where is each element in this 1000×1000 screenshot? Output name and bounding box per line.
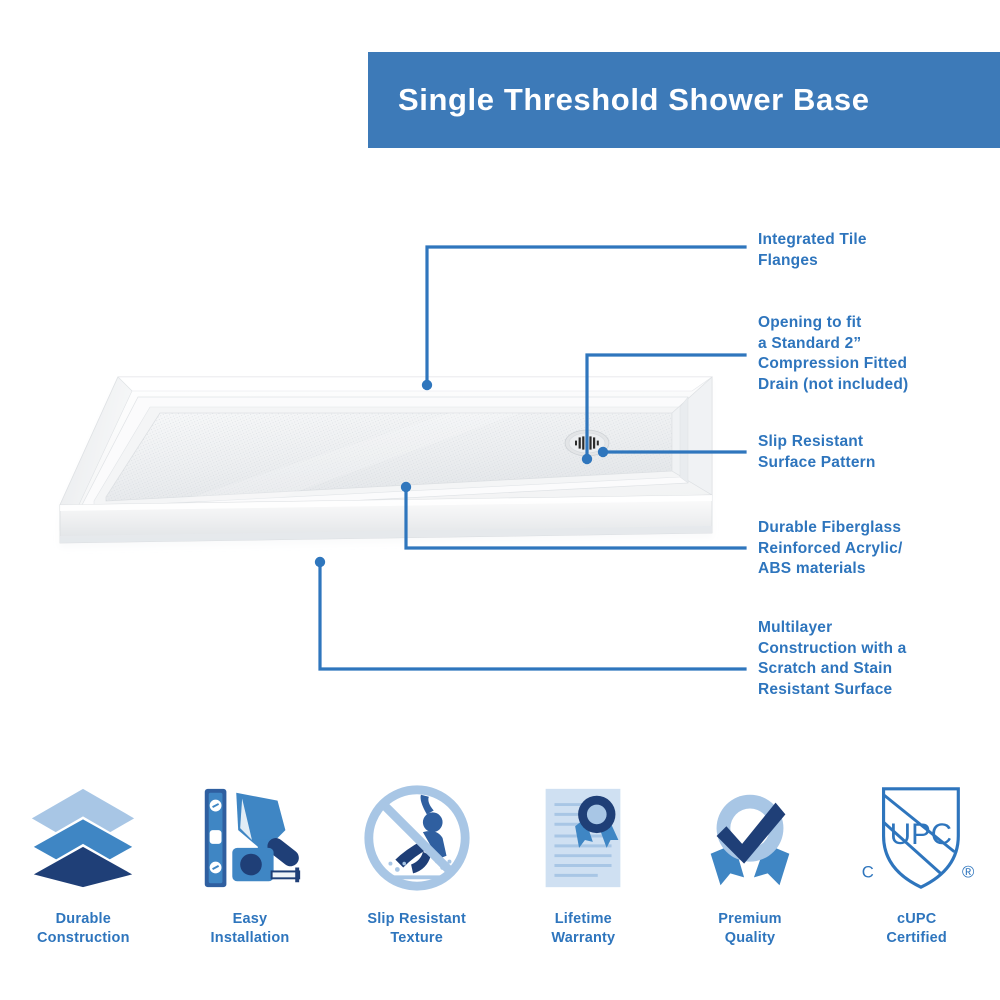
feature-cupc-certified: UPC C ® cUPC Certified xyxy=(833,778,1000,978)
tools-icon xyxy=(190,778,310,898)
check-rosette-icon xyxy=(690,778,810,898)
leader-dot-multilayer-construction xyxy=(315,557,325,567)
leader-dot-fiberglass-acrylic-abs xyxy=(401,482,411,492)
feature-strip: Durable Construction xyxy=(0,778,1000,978)
cupc-left-mark: C xyxy=(861,862,873,881)
cupc-band-text: UPC xyxy=(889,818,951,851)
leader-dot-drain-opening xyxy=(582,454,592,464)
feature-durable-construction: Durable Construction xyxy=(0,778,167,978)
leader-dot-slip-resistant-surface xyxy=(598,447,608,457)
callout-integrated-tile-flanges: Integrated Tile Flanges xyxy=(758,230,867,271)
leader-line-drain-opening xyxy=(587,355,745,459)
certificate-icon xyxy=(523,778,643,898)
feature-lifetime-warranty: Lifetime Warranty xyxy=(500,778,667,978)
feature-label: Easy Installation xyxy=(211,910,290,947)
callout-drain-opening: Opening to fit a Standard 2” Compression… xyxy=(758,313,908,395)
callout-multilayer-construction: Multilayer Construction with a Scratch a… xyxy=(758,618,906,700)
feature-label: cUPC Certified xyxy=(886,910,947,947)
feature-slip-resistant: Slip Resistant Texture xyxy=(333,778,500,978)
cupc-right-mark: ® xyxy=(962,862,975,881)
feature-label: Durable Construction xyxy=(37,910,130,947)
feature-label: Slip Resistant Texture xyxy=(367,910,466,947)
leader-line-fiberglass-acrylic-abs xyxy=(406,487,745,548)
leader-dot-integrated-tile-flanges xyxy=(422,380,432,390)
cupc-shield-icon: UPC C ® xyxy=(857,778,977,898)
leader-line-multilayer-construction xyxy=(320,562,745,669)
feature-premium-quality: Premium Quality xyxy=(667,778,834,978)
feature-easy-installation: Easy Installation xyxy=(167,778,334,978)
no-slip-icon xyxy=(357,778,477,898)
callout-fiberglass-acrylic-abs: Durable Fiberglass Reinforced Acrylic/ A… xyxy=(758,518,903,580)
callout-slip-resistant-surface: Slip Resistant Surface Pattern xyxy=(758,432,876,473)
feature-label: Premium Quality xyxy=(718,910,781,947)
layers-icon xyxy=(23,778,143,898)
feature-label: Lifetime Warranty xyxy=(551,910,615,947)
